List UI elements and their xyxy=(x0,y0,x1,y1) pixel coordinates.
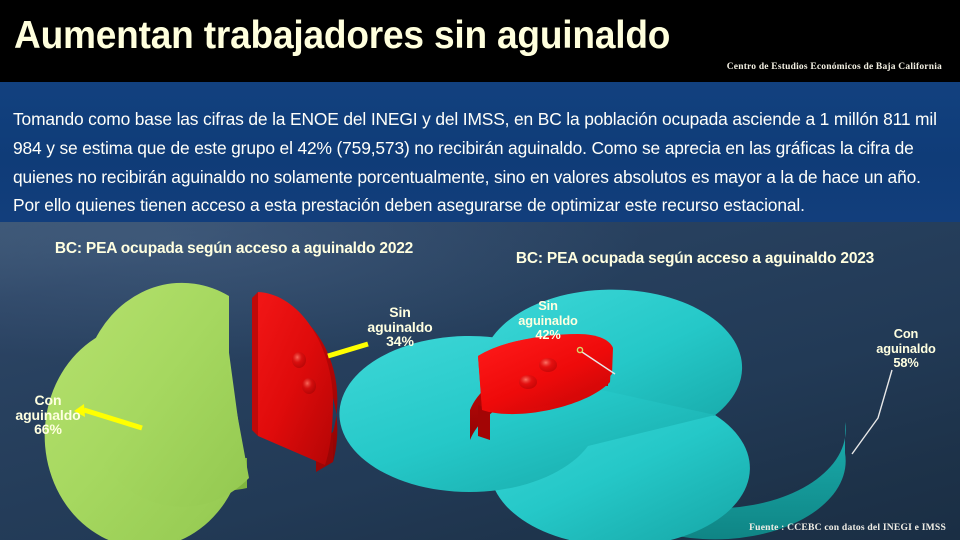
label-line-1: Sin xyxy=(495,299,601,314)
label-line-1: Con xyxy=(0,393,96,408)
source-credit: Fuente : CCEBC con datos del INEGI e IMS… xyxy=(749,522,946,533)
title-band: Aumentan trabajadores sin aguinaldo Cent… xyxy=(0,0,960,82)
label-line-3: 42% xyxy=(495,328,601,343)
pie-label-con-aguinaldo-2023: Con aguinaldo 58% xyxy=(856,327,956,371)
label-line-2: aguinaldo xyxy=(348,320,452,335)
page-title: Aumentan trabajadores sin aguinaldo xyxy=(14,16,670,55)
label-line-3: 34% xyxy=(348,334,452,349)
label-line-2: aguinaldo xyxy=(495,314,601,329)
callout-leader-lines xyxy=(0,222,960,540)
label-line-2: aguinaldo xyxy=(0,408,96,423)
presentation-slide: Aumentan trabajadores sin aguinaldo Cent… xyxy=(0,0,960,540)
summary-paragraph: Tomando como base las cifras de la ENOE … xyxy=(13,105,945,219)
charts-container: BC: PEA ocupada según acceso a aguinaldo… xyxy=(0,222,960,540)
leader-line-con-2023 xyxy=(852,370,892,454)
leader-endpoint-sin-2023 xyxy=(577,347,582,352)
summary-text-band: Tomando como base las cifras de la ENOE … xyxy=(0,82,960,222)
label-line-1: Con xyxy=(856,327,956,342)
label-line-3: 58% xyxy=(856,356,956,371)
pie-label-sin-aguinaldo-2022: Sin aguinaldo 34% xyxy=(348,305,452,349)
leader-line-sin-2023 xyxy=(582,352,615,374)
label-line-2: aguinaldo xyxy=(856,342,956,357)
organization-credit: Centro de Estudios Económicos de Baja Ca… xyxy=(727,62,942,72)
label-line-3: 66% xyxy=(0,422,96,437)
pie-label-sin-aguinaldo-2023: Sin aguinaldo 42% xyxy=(495,299,601,343)
pie-label-con-aguinaldo-2022: Con aguinaldo 66% xyxy=(0,393,96,437)
label-line-1: Sin xyxy=(348,305,452,320)
